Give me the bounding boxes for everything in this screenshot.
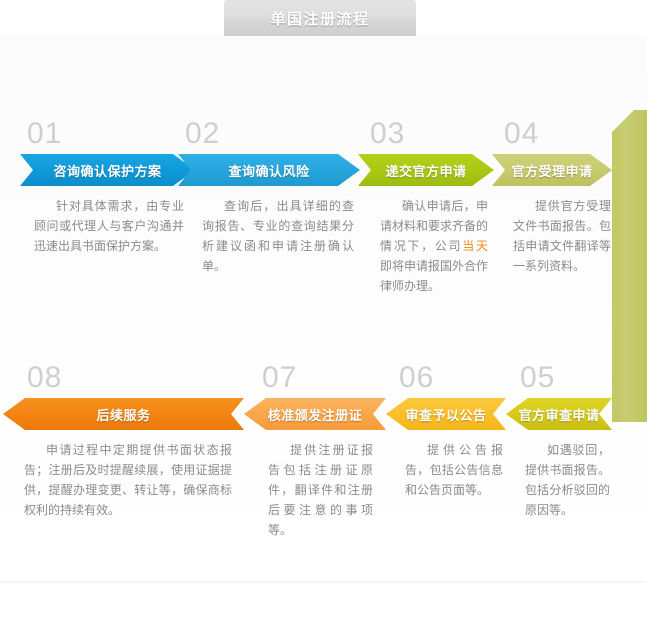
step-body-05: 如遇驳回，提供书面报告。包括分析驳回的原因等。 [525,440,610,520]
step-body-08: 申请过程中定期提供书面状态报告；注册后及时提醒续展，使用证据提供，提醒办理变更、… [24,440,232,520]
step-body-06: 提供公告报告，包括公告信息和公告页面等。 [405,440,503,500]
step-arrow-08[interactable]: 后续服务 [3,398,244,430]
step-number-06: 06 [399,361,434,395]
step-number-03: 03 [370,117,405,151]
step-label-01: 咨询确认保护方案 [53,161,161,180]
step-body-03-highlight: 当天 [462,239,488,253]
step-label-05: 官方审查申请 [518,405,599,424]
step-arrow-04[interactable]: 官方受理申请 [492,154,612,186]
step-arrow-05[interactable]: 官方审查申请 [506,398,612,430]
step-body-01: 针对具体需求，由专业顾问或代理人与客户沟通并迅速出具书面保护方案。 [34,196,184,256]
step-arrow-06[interactable]: 审查予以公告 [386,398,506,430]
flow-diagram-panel: 01 咨询确认保护方案 针对具体需求，由专业顾问或代理人与客户沟通并迅速出具书面… [0,36,647,581]
step-number-08: 08 [27,361,62,395]
step-label-02: 查询确认风险 [228,161,309,180]
step-label-04: 官方受理申请 [511,161,592,180]
step-body-03-part2: 即将申请报国外合作律师办理。 [380,259,488,293]
step-label-06: 审查予以公告 [405,405,486,424]
diagram-title-tab: 单国注册流程 [224,0,416,36]
step-body-07: 提供注册证报告包括注册证原件，翻译件和注册后要注意的事项等。 [268,440,373,540]
page-title: 单国注册流程 [270,8,369,29]
step-label-08: 后续服务 [96,405,150,424]
step-arrow-07[interactable]: 核准颁发注册证 [244,398,386,430]
step-number-02: 02 [185,117,220,151]
step-number-01: 01 [27,117,62,151]
step-body-03: 确认申请后，申请材料和要求齐备的情况下，公司当天即将申请报国外合作律师办理。 [380,196,488,296]
step-body-04: 提供官方受理文件书面报告。包括申请文件翻译等一系列资料。 [513,196,611,276]
step-number-04: 04 [504,117,539,151]
step-label-03: 递交官方申请 [385,161,466,180]
step-body-02: 查询后，出具详细的查询报告、专业的查询结果分析建议函和申请注册确认单。 [202,196,354,276]
step-arrow-01[interactable]: 咨询确认保护方案 [20,154,195,186]
step-arrow-02[interactable]: 查询确认风险 [178,154,360,186]
flow-row-bottom: 08 后续服务 申请过程中定期提供书面状态报告；注册后及时提醒续展，使用证据提供… [0,336,647,566]
step-label-07: 核准颁发注册证 [268,405,363,424]
step-number-07: 07 [262,361,297,395]
step-arrow-03[interactable]: 递交官方申请 [358,154,494,186]
step-number-05: 05 [520,361,555,395]
flow-row-top: 01 咨询确认保护方案 针对具体需求，由专业顾问或代理人与客户沟通并迅速出具书面… [0,92,647,342]
